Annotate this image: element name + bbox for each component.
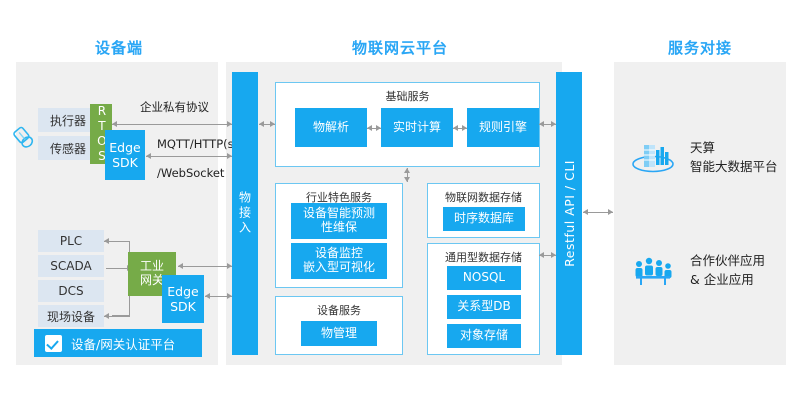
arrow-basic-to-lower [407, 168, 408, 182]
ingress-bar[interactable]: 物接入 [232, 72, 258, 355]
arrow-storage-to-api [539, 255, 556, 256]
service-entry-partners-label: 合作伙伴应用 & 企业应用 [690, 252, 765, 290]
industry-item-1-line2: 嵌入型可视化 [303, 261, 375, 275]
arrow-edge-sdk-to-ingress [205, 296, 232, 297]
section-title-service: 服务对接 [650, 33, 750, 62]
bigdata-label-line1: 天算 [690, 139, 778, 158]
bigdata-building-icon [630, 138, 676, 178]
arrow-gateway-to-ingress [178, 266, 232, 267]
arrow-gateway-to-field-device [104, 316, 130, 317]
basic-service-item-0[interactable]: 物解析 [295, 108, 367, 147]
auth-platform-bar[interactable]: 设备/网关认证平台 [34, 329, 202, 357]
arrow-mqtt-protocol [146, 156, 232, 157]
industry-service-item-1[interactable]: 设备监控 嵌入型可视化 [291, 243, 387, 279]
general-storage-item-0[interactable]: NOSQL [447, 266, 521, 290]
basic-service-item-1[interactable]: 实时计算 [381, 108, 453, 147]
industry-item-1-line1: 设备监控 [315, 247, 363, 261]
industrial-item-dcs[interactable]: DCS [38, 280, 104, 302]
basic-service-title: 基础服务 [276, 88, 539, 104]
ingress-bar-label: 物接入 [237, 191, 254, 236]
arrow-basic-service-to-api [539, 124, 556, 125]
industry-item-0-line1: 设备智能预测 [303, 207, 375, 221]
arrow-api-to-service-panel [583, 212, 613, 213]
industry-item-0-line2: 性维保 [321, 221, 357, 235]
arrow-ingress-to-basic-service [259, 124, 275, 125]
edge-sdk-top[interactable]: Edge SDK [105, 130, 145, 180]
edge-sdk-top-line1: Edge [109, 140, 140, 155]
device-endpoint-actuator[interactable]: 执行器 [38, 108, 98, 132]
general-storage-item-2[interactable]: 对象存储 [447, 324, 521, 348]
arrow-private-protocol [112, 124, 232, 125]
device-service-item-0[interactable]: 物管理 [301, 321, 377, 346]
device-endpoint-sensor[interactable]: 传感器 [38, 136, 98, 160]
bigdata-label-line2: 智能大数据平台 [690, 158, 778, 177]
iot-storage-title: 物联网数据存储 [428, 189, 539, 205]
section-title-device: 设备端 [72, 33, 166, 62]
general-storage-item-1[interactable]: 关系型DB [447, 295, 521, 319]
protocol-mqtt-label-1: MQTT/HTTP(s) [157, 137, 238, 151]
edge-sdk-top-line2: SDK [112, 155, 138, 170]
auth-platform-label: 设备/网关认证平台 [71, 334, 175, 353]
basic-service-item-2[interactable]: 规则引擎 [467, 108, 539, 147]
industrial-item-field-device[interactable]: 现场设备 [38, 305, 104, 327]
sensor-chip-icon [10, 124, 36, 150]
gateway-label-line2: 网关 [140, 274, 164, 288]
edge-sdk-bottom-line2: SDK [170, 299, 196, 314]
restful-api-bar[interactable]: Restful API / CLI [556, 72, 582, 355]
industrial-item-plc[interactable]: PLC [38, 230, 104, 252]
section-title-platform: 物联网云平台 [339, 33, 461, 62]
device-service-title: 设备服务 [276, 302, 402, 318]
partners-label-line1: 合作伙伴应用 [690, 252, 765, 271]
check-icon [45, 335, 62, 352]
arrow-compute-to-rules [453, 128, 467, 129]
edge-sdk-bottom[interactable]: Edge SDK [162, 275, 204, 323]
arrow-parse-to-compute [367, 128, 381, 129]
partners-label-line2: & 企业应用 [690, 271, 765, 290]
service-entry-bigdata[interactable]: 天算 智能大数据平台 [630, 135, 780, 181]
industrial-item-scada[interactable]: SCADA [38, 255, 104, 277]
arrow-gateway-to-plc [104, 241, 130, 242]
service-entry-bigdata-label: 天算 智能大数据平台 [690, 139, 778, 177]
protocol-private-label: 企业私有协议 [140, 99, 209, 115]
restful-api-bar-label: Restful API / CLI [562, 160, 577, 267]
general-storage-title: 通用型数据存储 [428, 249, 539, 265]
protocol-mqtt-label-2: /WebSocket [157, 166, 224, 180]
service-panel [614, 62, 786, 365]
industry-service-item-0[interactable]: 设备智能预测 性维保 [291, 203, 387, 239]
partners-meeting-icon [630, 251, 676, 291]
service-entry-partners[interactable]: 合作伙伴应用 & 企业应用 [630, 248, 780, 294]
edge-sdk-bottom-line1: Edge [167, 284, 198, 299]
gateway-label-line1: 工业 [140, 260, 164, 274]
iot-storage-item-0[interactable]: 时序数据库 [443, 207, 525, 231]
